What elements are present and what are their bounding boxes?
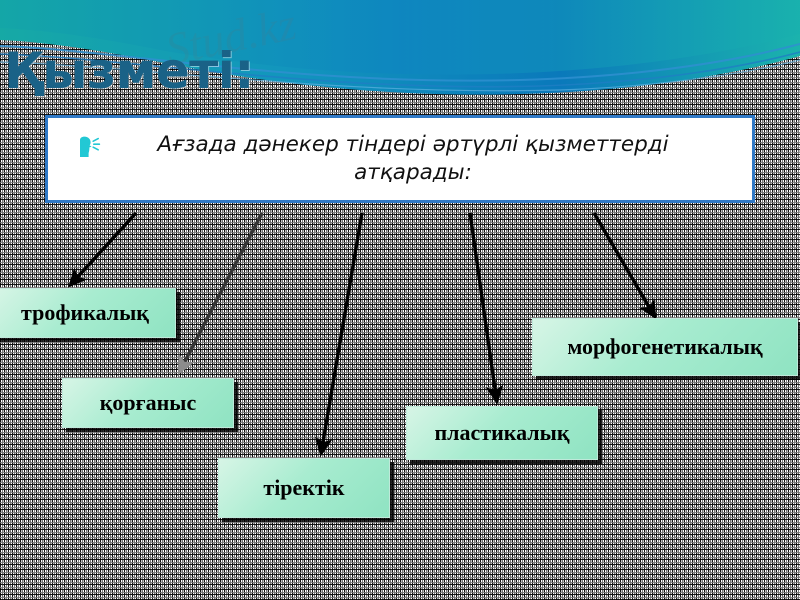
statement-box: Ағзада дәнекер тіндері әртүрлі қызметтер…	[45, 115, 755, 203]
term-box-morfogenetikalyq[interactable]: морфогенетикалық	[532, 318, 798, 376]
term-label: трофикалық	[21, 300, 149, 326]
term-box-trofikalyq[interactable]: трофикалық	[0, 288, 176, 338]
slide-title: Қызметі:	[4, 42, 254, 100]
term-label: морфогенетикалық	[567, 334, 762, 360]
term-box-plastikalyq[interactable]: пластикалық	[406, 406, 598, 460]
speaking-head-icon	[77, 136, 101, 158]
term-label: тіректік	[263, 475, 344, 501]
term-label: қорғаныс	[100, 390, 197, 416]
statement-text: Ағзада дәнекер тіндері әртүрлі қызметтер…	[103, 131, 723, 188]
term-label: пластикалық	[435, 420, 570, 446]
term-box-tirektik[interactable]: тіректік	[218, 458, 390, 518]
term-box-korganys[interactable]: қорғаныс	[62, 378, 234, 428]
presentation-slide: Stud.kz Stud.kz Stud.kz Stud.kz Қызметі:…	[0, 0, 800, 600]
